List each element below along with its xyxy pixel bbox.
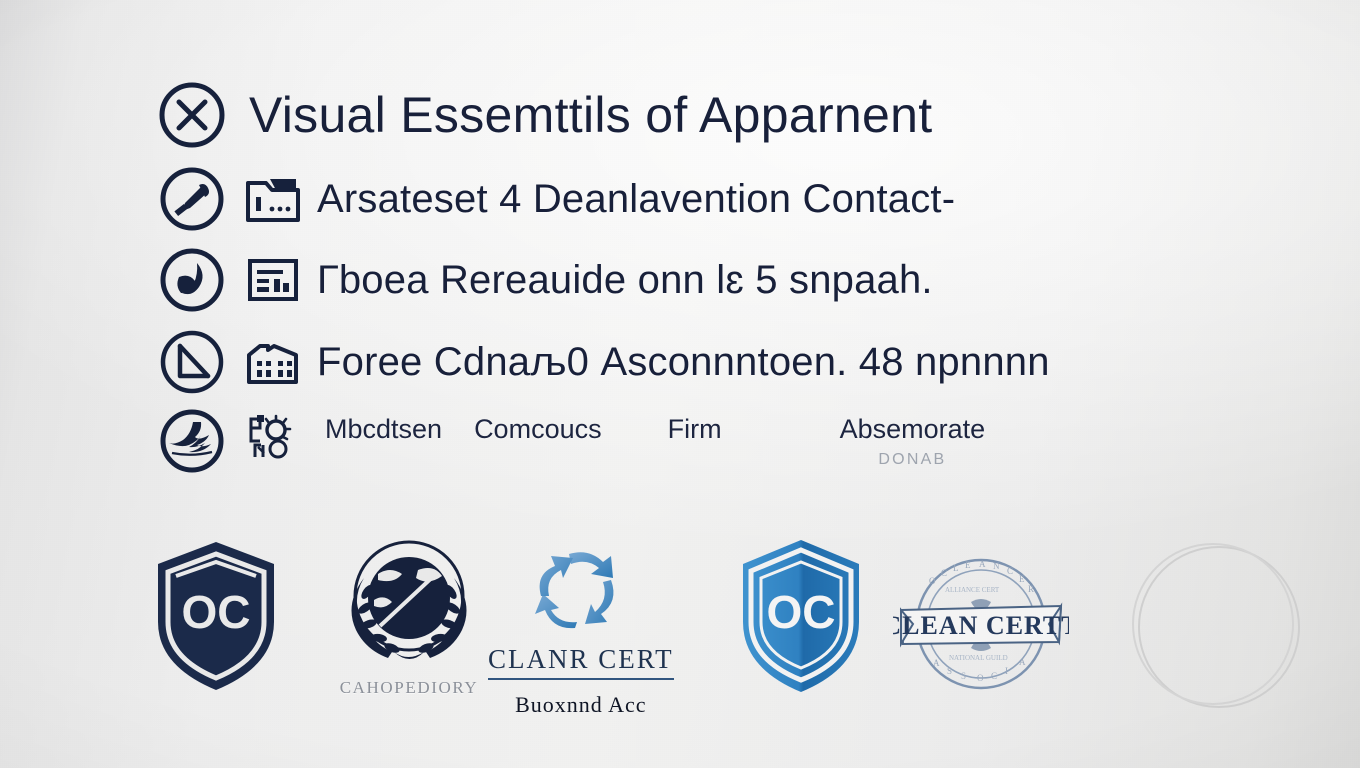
svg-text:NATIONAL GUILD: NATIONAL GUILD (949, 654, 1008, 662)
svg-text:A: A (1019, 657, 1027, 667)
logo-clean-cert-stamp[interactable]: OCL EAN CER ASS OCI A ALLIANCE CERT NATI… (893, 548, 1069, 698)
logo-caption-buoxnnd: Buoxnnd Acc (515, 692, 646, 718)
tag-label: Absemorate (840, 414, 986, 444)
list-row-4-text: Foree Cdnaљ0 Asconnntoen. 48 npnnnn (317, 340, 1050, 385)
list-row-title: Visual Essemttils of Apparnent (155, 78, 932, 152)
svg-text:C: C (1007, 566, 1014, 576)
circle-brush-icon (155, 162, 229, 236)
page-title: Visual Essemttils of Apparnent (249, 86, 932, 144)
logo-oc-shield-navy[interactable]: OC (148, 536, 284, 696)
globe-laurel-icon (334, 534, 484, 670)
list-row-3: Гboea Rereauide onn lɛ 5 snpaаһ. (155, 243, 933, 317)
stamp-banner-text: CLEAN CERTT (893, 611, 1069, 640)
tag-item-2[interactable]: Firm (668, 414, 722, 445)
svg-text:R: R (1028, 584, 1035, 594)
tag-item-1[interactable]: Comcoucs (474, 414, 602, 445)
svg-text:ALLIANCE CERT: ALLIANCE CERT (945, 586, 1000, 594)
svg-text:A: A (979, 559, 987, 569)
building-icon (243, 333, 303, 391)
logo-clanr-cert[interactable]: CLANR CERT Buoxnnd Acc (488, 546, 674, 718)
tag-item-0[interactable]: Mbcdtsen (325, 414, 442, 445)
oc-shield-blue-icon: OC (733, 536, 869, 696)
tag-sublabel: DONAB (840, 451, 986, 469)
svg-text:O: O (929, 576, 937, 586)
tag-label: Mbcdtsen (325, 414, 442, 444)
clanr-cert-wordmark: CLANR CERT (488, 644, 674, 680)
list-row-4: Foree Cdnaљ0 Asconnntoen. 48 npnnnn (155, 325, 1050, 399)
circle-leaf-icon (155, 243, 229, 317)
logo-oc-shield-blue[interactable]: OC (733, 536, 869, 696)
list-row-tags: Mbcdtsen Comcoucs Firm Absemorate DONAB (155, 402, 985, 478)
stamp-graphic: OCL EAN CER ASS OCI A ALLIANCE CERT NATI… (893, 548, 1069, 698)
tag-strip: Mbcdtsen Comcoucs Firm Absemorate DONAB (325, 414, 985, 469)
tag-label: Firm (668, 414, 722, 444)
svg-text:C: C (941, 568, 948, 578)
svg-text:I: I (1005, 666, 1009, 676)
svg-text:E: E (1019, 574, 1026, 584)
svg-text:O: O (977, 673, 985, 683)
circle-angle-icon (155, 325, 229, 399)
tools-gear-icon (243, 408, 303, 466)
svg-text:S: S (961, 671, 967, 681)
empty-ring-icon (1138, 546, 1300, 708)
content-area: Visual Essemttils of Apparnent Arsateset… (0, 0, 1360, 768)
svg-text:L: L (953, 563, 960, 573)
svg-text:N: N (993, 561, 1001, 571)
logo-empty-ring-placeholder[interactable] (1138, 546, 1300, 708)
tag-label: Comcoucs (474, 414, 602, 444)
clanr-cert-arrows-icon (513, 546, 649, 642)
svg-text:S: S (947, 666, 953, 676)
svg-text:C: C (991, 671, 998, 681)
list-row-2-text: Arsateset 4 Deanlavention Contact- (317, 177, 955, 222)
oc-monogram: OC (767, 586, 836, 638)
list-row-3-text: Гboea Rereauide onn lɛ 5 snpaаһ. (317, 258, 933, 303)
logo-caption-cahopediory: CAHOPEDIORY (340, 678, 479, 698)
svg-text:A: A (933, 658, 941, 668)
svg-text:E: E (965, 560, 972, 570)
logo-globe-laurel[interactable]: CAHOPEDIORY (334, 534, 484, 698)
list-row-2: Arsateset 4 Deanlavention Contact- (155, 162, 955, 236)
folder-icon (243, 170, 303, 228)
logo-band: OC (0, 528, 1360, 728)
tag-item-3[interactable]: Absemorate DONAB (840, 414, 986, 469)
oc-shield-navy-icon: OC (148, 536, 284, 696)
dashboard-window-icon (243, 251, 303, 309)
circle-star-burst-icon (155, 404, 229, 478)
oc-monogram: OC (182, 586, 251, 638)
circle-x-icon (155, 78, 229, 152)
